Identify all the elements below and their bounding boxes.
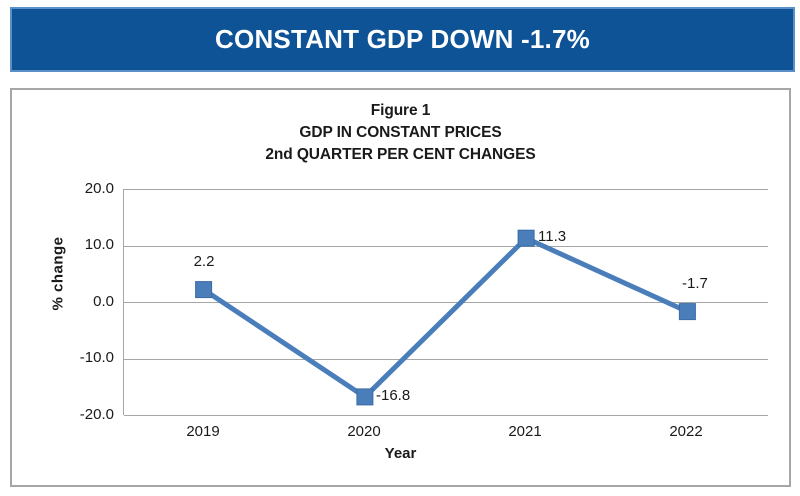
x-tick-label-2021: 2021 [480, 423, 570, 440]
chart-title-line-3: 2nd QUARTER PER CENT CHANGES [12, 144, 789, 166]
gridline-0 [124, 302, 768, 303]
data-label-2021: 11.3 [538, 228, 566, 245]
banner-title: CONSTANT GDP DOWN -1.7% [215, 24, 590, 55]
chart-title-block: Figure 1 GDP IN CONSTANT PRICES 2nd QUAR… [12, 100, 789, 166]
gridline-neg20 [124, 415, 768, 416]
gridline-neg10 [124, 359, 768, 360]
chart-title-line-2: GDP IN CONSTANT PRICES [12, 122, 789, 144]
data-label-2019: 2.2 [174, 253, 234, 270]
chart-title-line-1: Figure 1 [12, 100, 789, 122]
gridline-10 [124, 246, 768, 247]
y-axis-title: % change [50, 214, 67, 334]
plot-area [123, 189, 768, 415]
y-tick-label-neg10: -10.0 [44, 349, 114, 366]
x-tick-label-2020: 2020 [319, 423, 409, 440]
header-banner: CONSTANT GDP DOWN -1.7% [10, 7, 795, 72]
gridline-20 [124, 189, 768, 190]
x-axis-title: Year [12, 445, 789, 462]
data-label-2020: -16.8 [376, 387, 410, 404]
x-tick-label-2019: 2019 [158, 423, 248, 440]
y-tick-label-20: 20.0 [44, 180, 114, 197]
chart-figure-frame: Figure 1 GDP IN CONSTANT PRICES 2nd QUAR… [10, 88, 791, 487]
y-tick-label-0: 0.0 [44, 293, 114, 310]
y-tick-label-neg20: -20.0 [44, 406, 114, 423]
data-label-2022: -1.7 [682, 275, 708, 292]
y-tick-label-10: 10.0 [44, 236, 114, 253]
x-tick-label-2022: 2022 [641, 423, 731, 440]
